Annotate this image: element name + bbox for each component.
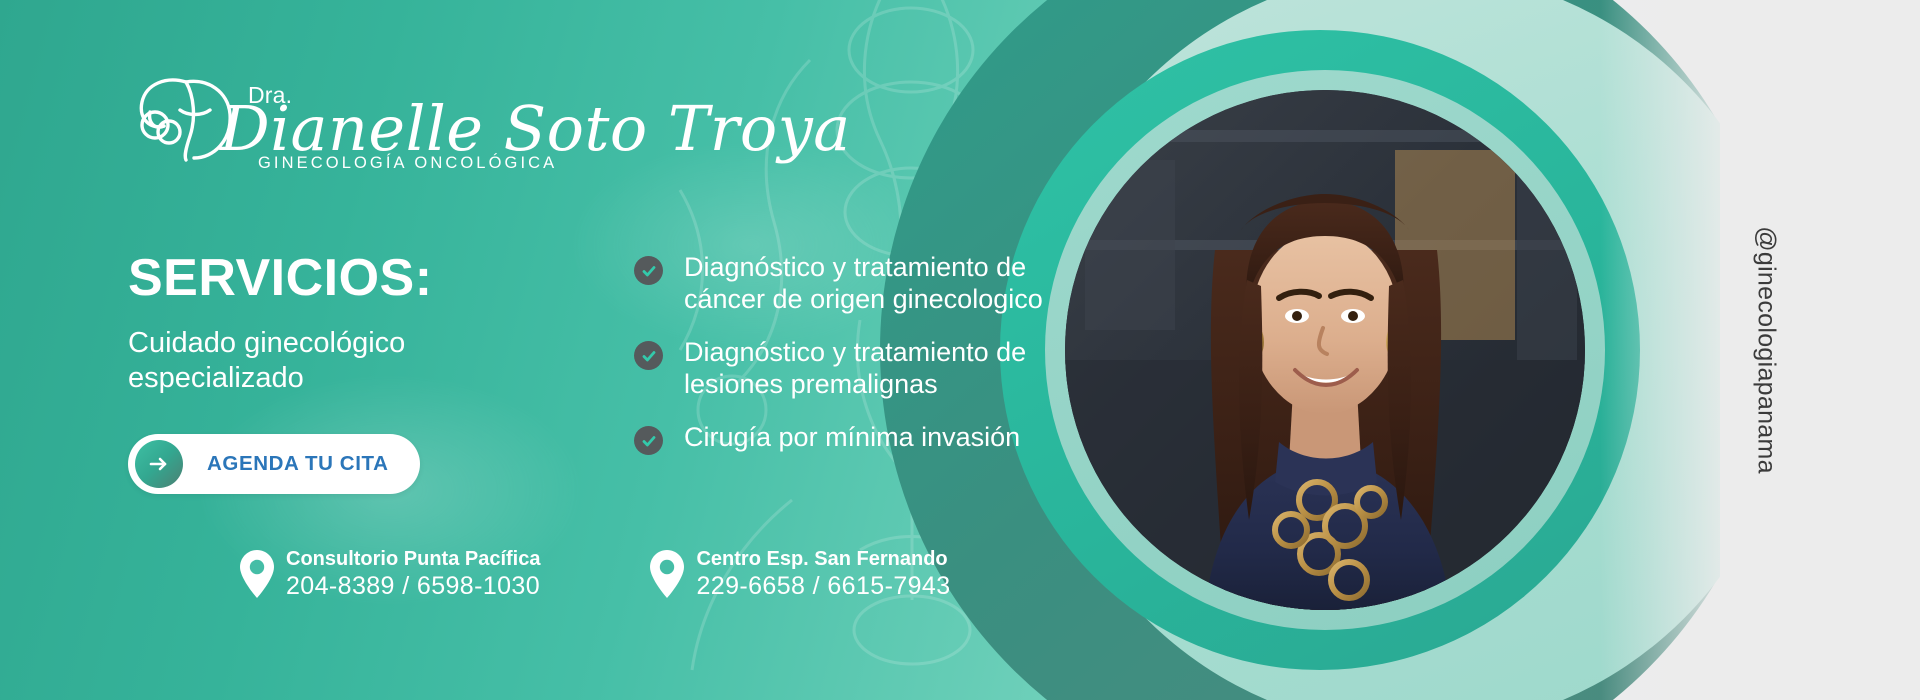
list-item: Cirugía por mínima invasión: [634, 422, 1104, 455]
list-item-label: Diagnóstico y tratamiento de cáncer de o…: [684, 252, 1104, 315]
list-item: Diagnóstico y tratamiento de lesiones pr…: [634, 337, 1104, 400]
location-item[interactable]: Centro Esp. San Fernando 229-6658 / 6615…: [650, 548, 950, 601]
location-phones[interactable]: 229-6658 / 6615-7943: [696, 573, 950, 601]
right-gradient-fade: [1600, 0, 1740, 700]
locations-bar: Consultorio Punta Pacífica 204-8389 / 65…: [240, 548, 951, 601]
location-name: Centro Esp. San Fernando: [696, 548, 950, 571]
check-circle-icon: [634, 426, 663, 455]
map-pin-icon: [240, 550, 274, 598]
location-phones[interactable]: 204-8389 / 6598-1030: [286, 573, 540, 601]
services-block: SERVICIOS: Cuidado ginecológico especial…: [128, 252, 548, 397]
services-subtitle: Cuidado ginecológico especializado: [128, 326, 478, 397]
right-light-panel: [1720, 0, 1920, 700]
cta-label: AGENDA TU CITA: [207, 452, 389, 476]
logo-doctor-name: Dianelle Soto Troya: [220, 98, 851, 160]
check-circle-icon: [634, 341, 663, 370]
check-circle-icon: [634, 256, 663, 285]
logo-specialty: GINECOLOGÍA ONCOLÓGICA: [258, 154, 557, 173]
services-list: Diagnóstico y tratamiento de cáncer de o…: [634, 252, 1104, 455]
arrow-right-icon: [135, 440, 183, 488]
schedule-appointment-button[interactable]: AGENDA TU CITA: [128, 434, 420, 494]
doctor-portrait-photo: [1065, 90, 1585, 610]
map-pin-icon: [650, 550, 684, 598]
list-item-label: Diagnóstico y tratamiento de lesiones pr…: [684, 337, 1104, 400]
clinic-promo-banner: Dra. Dianelle Soto Troya GINECOLOGÍA ONC…: [0, 0, 1920, 700]
instagram-handle[interactable]: @ginecologiapanama: [1752, 226, 1781, 474]
location-item[interactable]: Consultorio Punta Pacífica 204-8389 / 65…: [240, 548, 540, 601]
list-item: Diagnóstico y tratamiento de cáncer de o…: [634, 252, 1104, 315]
brand-logo: Dra. Dianelle Soto Troya GINECOLOGÍA ONC…: [128, 62, 558, 182]
list-item-label: Cirugía por mínima invasión: [684, 422, 1020, 454]
location-name: Consultorio Punta Pacífica: [286, 548, 540, 571]
services-title: SERVICIOS:: [128, 252, 548, 304]
